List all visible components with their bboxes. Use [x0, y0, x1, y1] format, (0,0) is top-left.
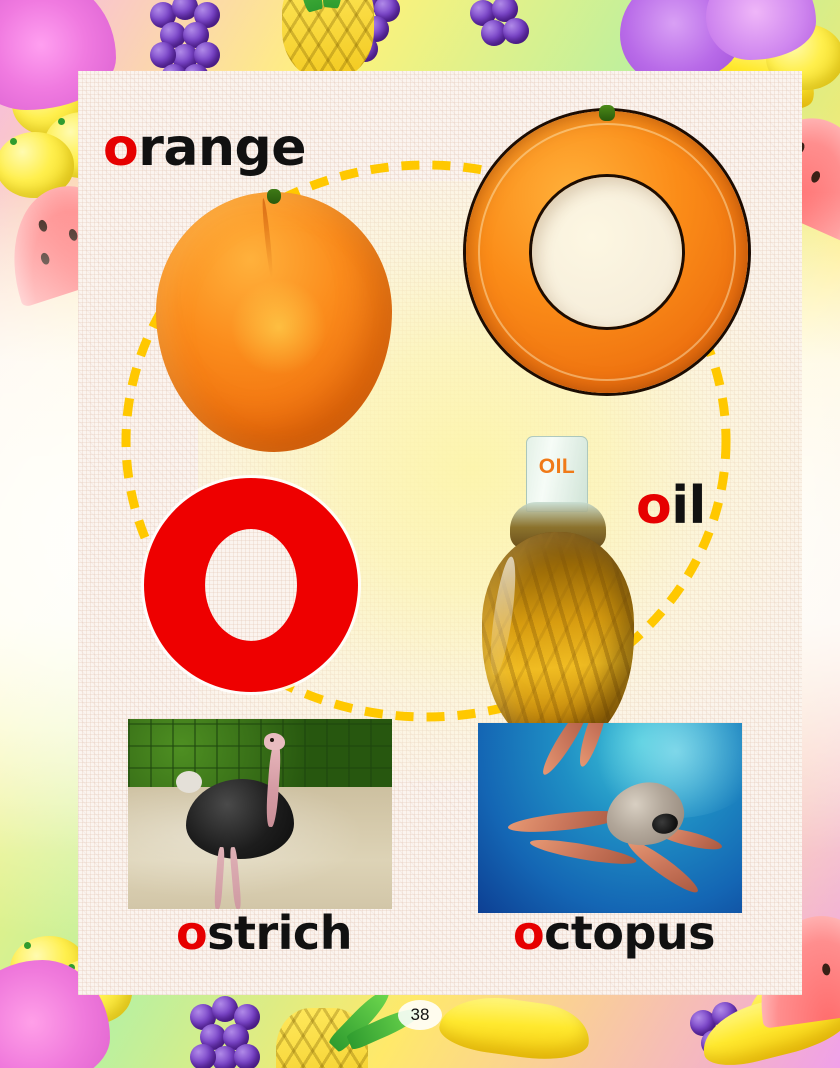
highlight-letter-o: o: [513, 906, 544, 960]
word-ostrich-rest: strich: [207, 906, 352, 960]
word-ostrich: ostrich: [176, 906, 352, 960]
alphabet-page: OIL: [0, 0, 840, 1068]
highlight-letter-o: o: [176, 906, 207, 960]
ostrich-photo: [128, 719, 392, 909]
orange-letter-o-image: [466, 111, 748, 393]
octopus-photo: [478, 723, 742, 913]
content-card: OIL: [78, 71, 802, 995]
page-number: 38: [398, 1000, 442, 1030]
banana-icon: [437, 990, 593, 1066]
hedge-background: [128, 719, 392, 791]
orange-stem-icon: [267, 189, 281, 204]
oil-bottle-image: OIL: [478, 436, 638, 756]
ostrich-head: [264, 733, 285, 750]
word-oil: oil: [636, 476, 706, 536]
orange-ring-hole: [532, 177, 682, 327]
word-octopus: octopus: [513, 906, 715, 960]
highlight-letter-o: o: [636, 476, 671, 536]
orange-ring-stem-icon: [599, 105, 615, 121]
word-orange-rest: range: [138, 118, 306, 178]
pineapple-icon: [282, 0, 374, 80]
word-oil-rest: il: [671, 476, 706, 536]
ostrich-tail: [176, 771, 202, 793]
oil-bottle-neck: OIL: [526, 436, 588, 512]
orange-crease: [260, 198, 273, 278]
red-letter-o-counter: [205, 529, 297, 641]
word-octopus-rest: ctopus: [544, 906, 715, 960]
word-orange: orange: [103, 118, 306, 178]
orange-fruit-image: [156, 192, 392, 452]
oil-bottle-label: OIL: [527, 455, 587, 479]
ostrich-scene: [128, 719, 392, 909]
octopus-scene: [478, 723, 742, 913]
highlight-letter-o: o: [103, 118, 138, 178]
red-letter-o: [144, 478, 358, 692]
